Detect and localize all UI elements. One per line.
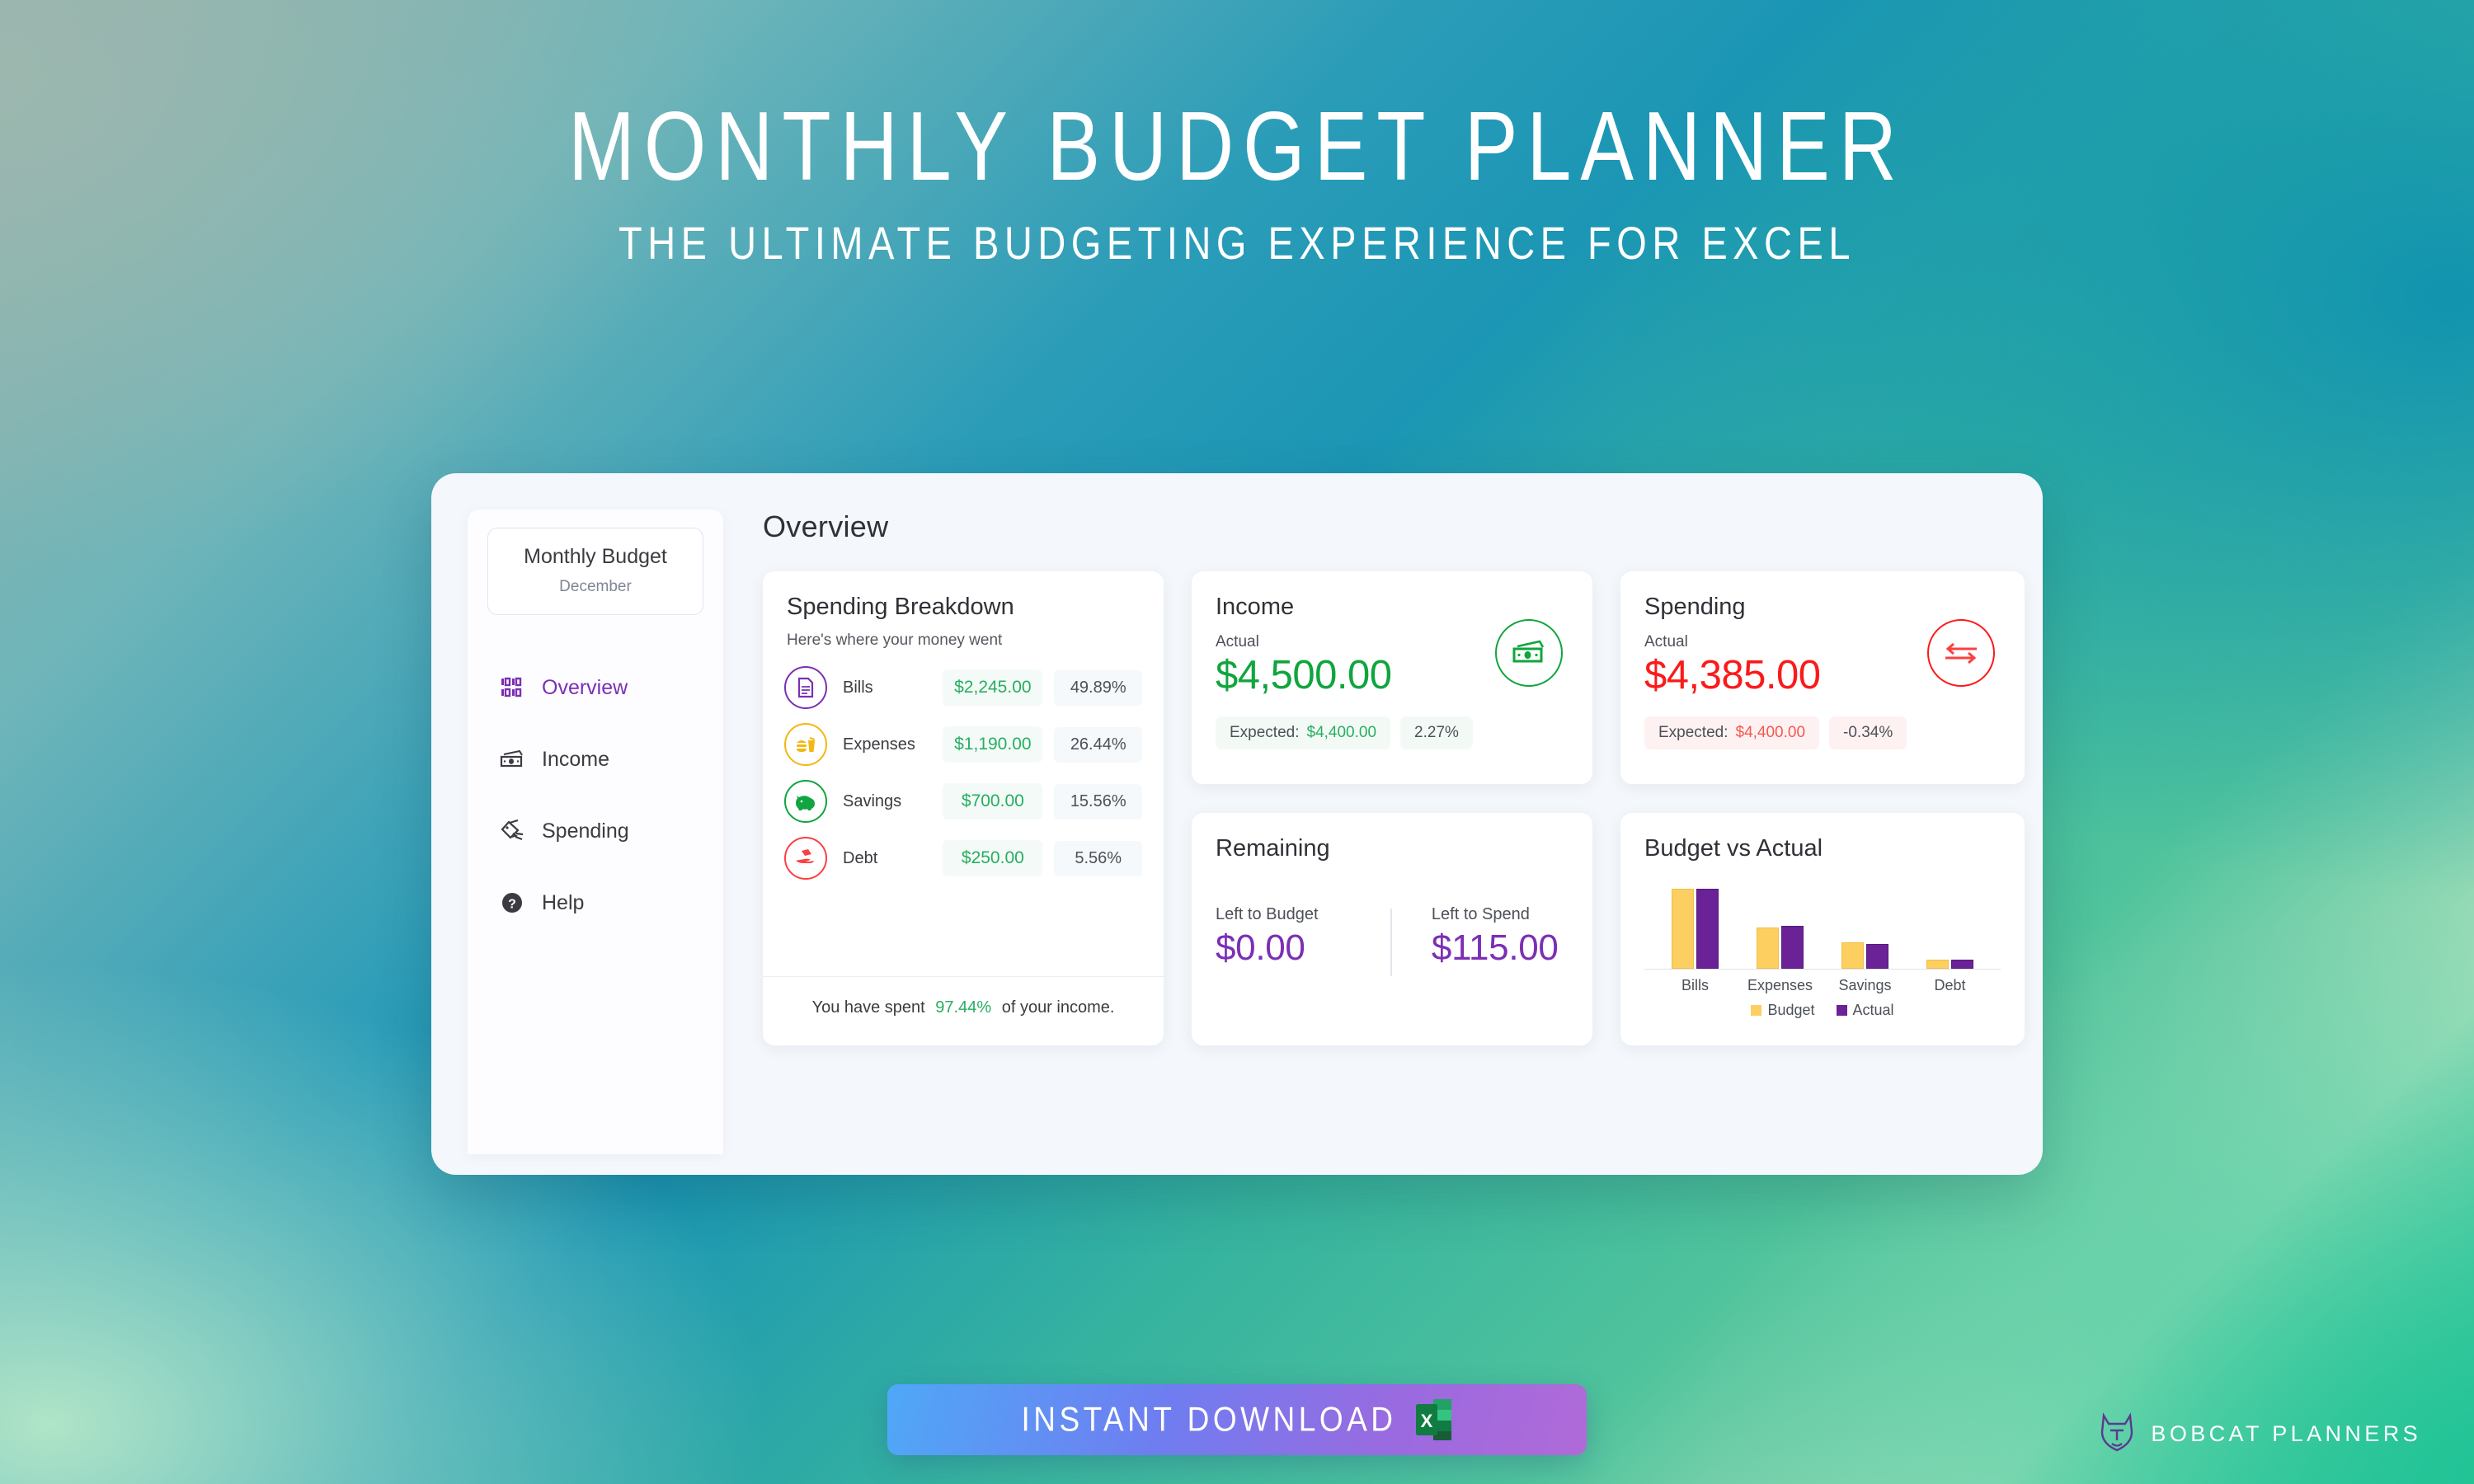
fastfood-icon xyxy=(784,723,827,766)
spending-breakdown-card: Spending Breakdown Here's where your mon… xyxy=(763,571,1164,1045)
legend-swatch xyxy=(1751,1005,1761,1016)
spending-expected-pill: Expected: $4,400.00 xyxy=(1644,716,1819,749)
page-root: MONTHLY BUDGET PLANNER THE ULTIMATE BUDG… xyxy=(0,0,2474,1484)
svg-text:X: X xyxy=(1420,1411,1432,1431)
sidebar-item-income[interactable]: Income xyxy=(468,738,723,781)
remaining-body: Left to Budget $0.00 Left to Spend $115.… xyxy=(1216,905,1569,976)
chart-category-label: Expenses xyxy=(1738,977,1823,994)
breakdown-footer: You have spent 97.44% of your income. xyxy=(763,976,1164,1045)
breakdown-row-percent: 26.44% xyxy=(1054,727,1142,763)
spending-card: Spending Actual $4,385.00 Expected: $4,4… xyxy=(1620,571,2025,784)
income-variance-pill: 2.27% xyxy=(1400,716,1473,749)
table-row: Debt $250.00 5.56% xyxy=(784,837,1142,880)
page-title: MONTHLY BUDGET PLANNER xyxy=(0,97,2474,197)
budget-selector[interactable]: Monthly Budget December xyxy=(487,528,703,615)
question-circle-icon: ? xyxy=(499,890,525,916)
sidebar-item-help[interactable]: ? Help xyxy=(468,881,723,924)
spending-variance-pill: -0.34% xyxy=(1829,716,1907,749)
chart-bar xyxy=(1866,944,1888,969)
breakdown-header: Spending Breakdown Here's where your mon… xyxy=(763,594,1164,650)
overview-heading: Overview xyxy=(763,510,2025,544)
chart-plot-area xyxy=(1644,881,2001,970)
income-variance-value: 2.27% xyxy=(1414,724,1459,742)
breakdown-rows: Bills $2,245.00 49.89% xyxy=(763,650,1164,976)
instant-download-button[interactable]: INSTANT DOWNLOAD X xyxy=(887,1384,1587,1455)
sidebar-item-label: Spending xyxy=(542,819,629,843)
breakdown-subtitle: Here's where your money went xyxy=(787,632,1140,650)
chart-category-labels: BillsExpensesSavingsDebt xyxy=(1644,977,2001,994)
breakdown-row-amount: $250.00 xyxy=(943,840,1042,876)
binary-grid-icon xyxy=(499,674,525,701)
chart-legend-item: Budget xyxy=(1751,1002,1814,1019)
income-expected-label: Expected: xyxy=(1230,724,1300,742)
breakdown-footer-percent: 97.44% xyxy=(935,998,991,1017)
excel-icon: X xyxy=(1415,1397,1453,1442)
sidebar-item-overview[interactable]: Overview xyxy=(468,666,723,709)
income-expected-pill: Expected: $4,400.00 xyxy=(1216,716,1390,749)
download-button-label: INSTANT DOWNLOAD xyxy=(1021,1400,1396,1439)
spending-expected-label: Expected: xyxy=(1658,724,1729,742)
chart-title: Budget vs Actual xyxy=(1644,835,2001,862)
chart-bar-group xyxy=(1926,960,1973,969)
spending-expected-value: $4,400.00 xyxy=(1736,724,1806,742)
money-flying-icon xyxy=(499,818,525,844)
bar-chart: BillsExpensesSavingsDebt BudgetActual xyxy=(1644,881,2001,1019)
sidebar-nav: Overview Income xyxy=(468,666,723,924)
table-row: Savings $700.00 15.56% xyxy=(784,780,1142,823)
breakdown-row-name: Savings xyxy=(843,792,943,811)
remaining-card: Remaining Left to Budget $0.00 Left to S… xyxy=(1192,813,1592,1045)
transfer-arrows-circle-icon xyxy=(1927,619,1995,687)
income-card: Income Actual $4,500.00 Expected: $4,400… xyxy=(1192,571,1592,784)
breakdown-row-percent: 15.56% xyxy=(1054,784,1142,819)
chart-bar xyxy=(1951,960,1973,969)
breakdown-row-amount: $700.00 xyxy=(943,783,1042,819)
breakdown-row-amount: $2,245.00 xyxy=(943,669,1042,706)
left-to-spend-value: $115.00 xyxy=(1432,927,1569,969)
breakdown-row-name: Debt xyxy=(843,849,943,868)
budget-vs-actual-card: Budget vs Actual BillsExpensesSavingsDeb… xyxy=(1620,813,2025,1045)
chart-bar xyxy=(1781,926,1804,969)
spending-variance-value: -0.34% xyxy=(1843,724,1893,742)
left-to-budget-block: Left to Budget $0.00 xyxy=(1216,905,1390,969)
remaining-card-title: Remaining xyxy=(1216,835,1569,862)
sidebar-item-spending[interactable]: Spending xyxy=(468,810,723,852)
page-subtitle: THE ULTIMATE BUDGETING EXPERIENCE FOR EX… xyxy=(0,216,2474,270)
breakdown-row-amount: $1,190.00 xyxy=(943,726,1042,763)
bobcat-head-icon xyxy=(2100,1412,2134,1456)
chart-legend: BudgetActual xyxy=(1644,1002,2001,1019)
breakdown-row-percent: 49.89% xyxy=(1054,670,1142,706)
chart-bar xyxy=(1672,889,1694,970)
income-expected-value: $4,400.00 xyxy=(1307,724,1377,742)
piggy-bank-icon xyxy=(784,780,827,823)
brand-name: BOBCAT PLANNERS xyxy=(2151,1421,2421,1447)
chart-bar-group xyxy=(1672,889,1719,970)
legend-label: Budget xyxy=(1767,1002,1814,1019)
left-to-spend-block: Left to Spend $115.00 xyxy=(1392,905,1569,969)
spending-pills: Expected: $4,400.00 -0.34% xyxy=(1644,716,2001,749)
chart-category-label: Bills xyxy=(1653,977,1738,994)
sidebar-item-label: Income xyxy=(542,748,609,772)
income-card-title: Income xyxy=(1216,594,1569,621)
main-content: Overview Income Actual $4,500.00 Expecte… xyxy=(723,510,2025,1175)
left-to-spend-label: Left to Spend xyxy=(1432,905,1569,924)
left-to-budget-label: Left to Budget xyxy=(1216,905,1390,924)
budget-month: December xyxy=(495,578,696,596)
sidebar-item-label: Help xyxy=(542,891,584,915)
chart-bar xyxy=(1841,942,1864,970)
banknote-icon xyxy=(499,746,525,773)
breakdown-row-name: Bills xyxy=(843,679,943,697)
spending-card-title: Spending xyxy=(1644,594,2001,621)
cards-grid: Income Actual $4,500.00 Expected: $4,400… xyxy=(763,571,2025,1045)
budget-title: Monthly Budget xyxy=(495,545,696,569)
breakdown-row-percent: 5.56% xyxy=(1054,841,1142,876)
breakdown-footer-suffix: of your income. xyxy=(1002,998,1115,1017)
table-row: Bills $2,245.00 49.89% xyxy=(784,666,1142,709)
chart-legend-item: Actual xyxy=(1837,1002,1894,1019)
document-icon xyxy=(784,666,827,709)
sidebar: Monthly Budget December xyxy=(468,510,723,1154)
breakdown-footer-prefix: You have spent xyxy=(812,998,925,1017)
chart-bar-group xyxy=(1757,926,1804,969)
chart-bar-group xyxy=(1841,942,1888,970)
breakdown-row-name: Expenses xyxy=(843,735,943,754)
svg-text:?: ? xyxy=(508,898,516,912)
legend-swatch xyxy=(1837,1005,1847,1016)
hero-section: MONTHLY BUDGET PLANNER THE ULTIMATE BUDG… xyxy=(0,0,2474,265)
breakdown-title: Spending Breakdown xyxy=(787,594,1140,621)
left-to-budget-value: $0.00 xyxy=(1216,927,1390,969)
brand-logo: BOBCAT PLANNERS xyxy=(2100,1412,2421,1456)
chart-bar xyxy=(1757,927,1779,969)
chart-category-label: Debt xyxy=(1907,977,1992,994)
income-pills: Expected: $4,400.00 2.27% xyxy=(1216,716,1569,749)
hand-money-icon xyxy=(784,837,827,880)
table-row: Expenses $1,190.00 26.44% xyxy=(784,723,1142,766)
app-window: Monthly Budget December xyxy=(431,473,2043,1175)
sidebar-item-label: Overview xyxy=(542,676,628,700)
banknote-circle-icon xyxy=(1495,619,1563,687)
chart-bar xyxy=(1926,960,1949,969)
chart-bar xyxy=(1696,889,1719,969)
chart-category-label: Savings xyxy=(1823,977,1907,994)
legend-label: Actual xyxy=(1853,1002,1894,1019)
